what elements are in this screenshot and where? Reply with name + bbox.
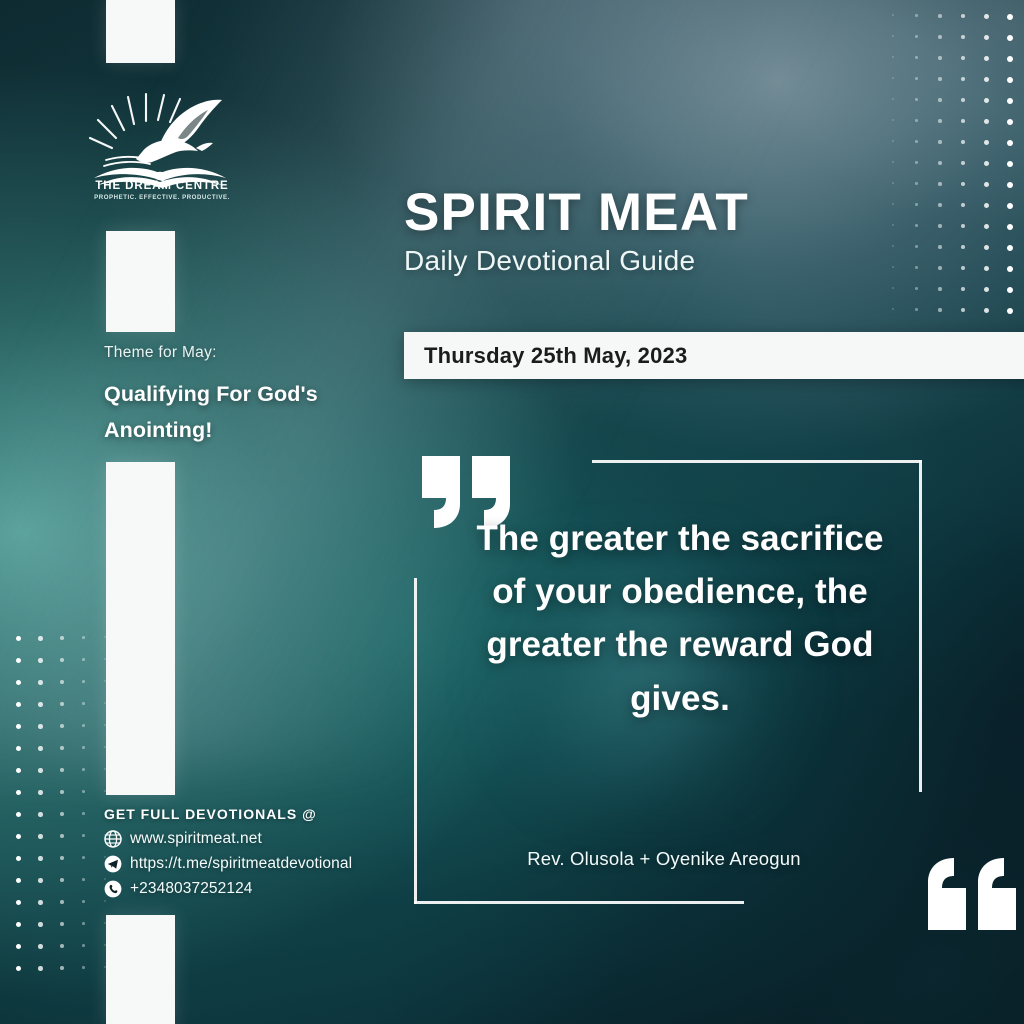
dot-grid-top-right: [884, 10, 1024, 330]
date-text: Thursday 25th May, 2023: [424, 343, 687, 369]
close-quote-icon: [922, 856, 1018, 932]
devotional-poster: THE DREAM CENTRE PROPHETIC. EFFECTIVE. P…: [0, 0, 1024, 1024]
theme-label: Theme for May:: [104, 344, 384, 362]
decorative-bar-2: [106, 231, 175, 332]
contact-block: GET FULL DEVOTIONALS @ www.spiritmeat.ne…: [104, 806, 404, 905]
quote-frame: The greater the sacrifice of your obedie…: [414, 460, 922, 904]
page-subtitle: Daily Devotional Guide: [404, 245, 749, 277]
decorative-bar-4: [106, 915, 175, 1024]
globe-icon: [104, 830, 122, 848]
contact-item-phone[interactable]: +2348037252124: [104, 880, 404, 898]
header-block: SPIRIT MEAT Daily Devotional Guide: [404, 186, 749, 277]
brand-wordmark: THE DREAM CENTRE: [82, 180, 242, 192]
telegram-icon: [104, 855, 122, 873]
frame-border-left: [414, 578, 417, 904]
frame-border-right: [919, 460, 922, 792]
dot-grid-bottom-left: [14, 632, 118, 1000]
quote-text: The greater the sacrifice of your obedie…: [470, 512, 890, 725]
phone-number: +2348037252124: [130, 880, 253, 898]
frame-border-bottom: [414, 901, 744, 904]
date-banner: Thursday 25th May, 2023: [404, 332, 1024, 379]
website-url: www.spiritmeat.net: [130, 830, 262, 848]
contact-item-telegram[interactable]: https://t.me/spiritmeatdevotional: [104, 855, 404, 873]
decorative-bar-1: [106, 0, 175, 63]
theme-block: Theme for May: Qualifying For God's Anoi…: [104, 344, 384, 448]
quote-author: Rev. Olusola + Oyenike Areogun: [454, 848, 874, 870]
decorative-bar-3: [106, 462, 175, 795]
contact-heading: GET FULL DEVOTIONALS @: [104, 806, 404, 822]
whatsapp-icon: [104, 880, 122, 898]
page-title: SPIRIT MEAT: [404, 186, 749, 239]
brand-tagline: PROPHETIC. EFFECTIVE. PRODUCTIVE.: [82, 194, 242, 201]
theme-value: Qualifying For God's Anointing!: [104, 376, 384, 448]
frame-border-top: [592, 460, 922, 463]
contact-item-website[interactable]: www.spiritmeat.net: [104, 830, 404, 848]
telegram-url: https://t.me/spiritmeatdevotional: [130, 855, 352, 873]
